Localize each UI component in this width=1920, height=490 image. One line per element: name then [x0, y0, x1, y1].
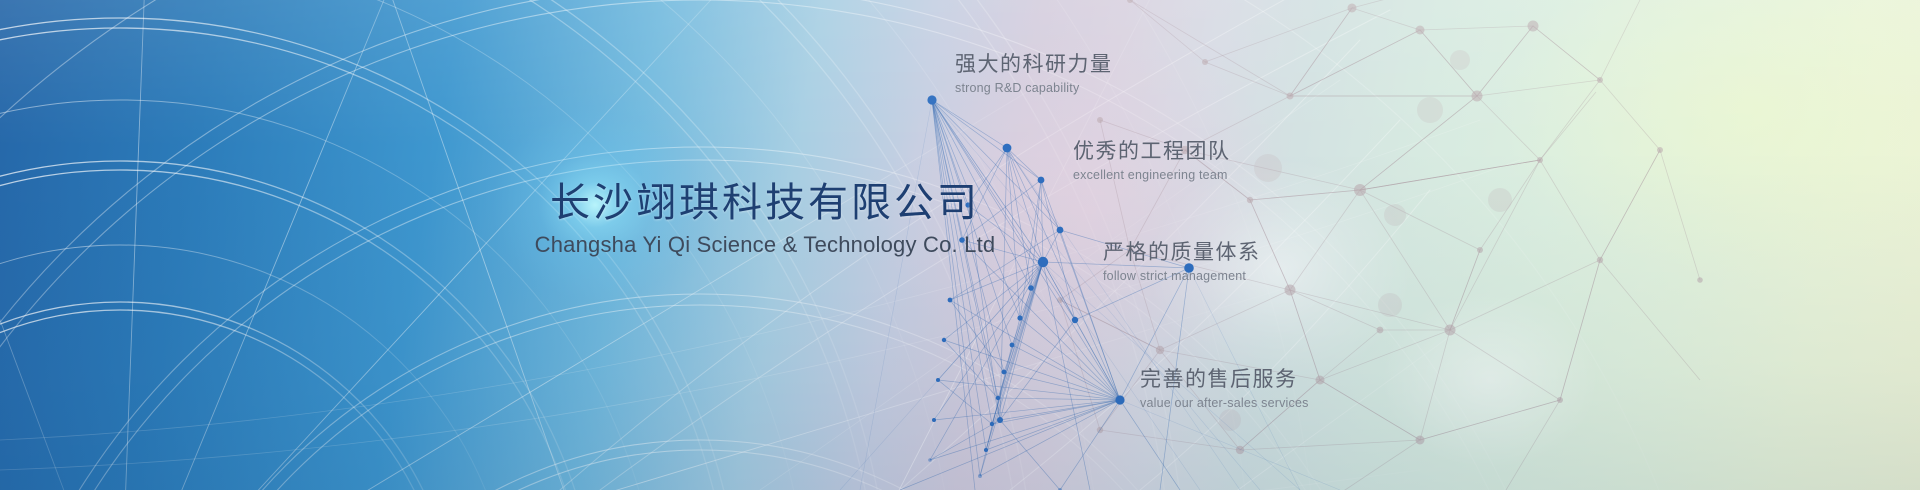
company-name-en: Changsha Yi Qi Science & Technology Co. …	[485, 232, 1045, 258]
feature-label-cn: 严格的质量体系	[1103, 240, 1261, 265]
feature-label-en: excellent engineering team	[1073, 168, 1231, 182]
company-name-cn: 长沙翊琪科技有限公司	[485, 180, 1045, 226]
feature-label-cn: 优秀的工程团队	[1073, 139, 1231, 164]
company-banner: 长沙翊琪科技有限公司 Changsha Yi Qi Science & Tech…	[0, 0, 1920, 490]
feature-label-en: value our after-sales services	[1140, 396, 1309, 410]
feature-label-cn: 强大的科研力量	[955, 52, 1113, 77]
feature-label-cn: 完善的售后服务	[1140, 367, 1309, 392]
company-title-block: 长沙翊琪科技有限公司 Changsha Yi Qi Science & Tech…	[485, 180, 1045, 258]
feature-label-en: follow strict management	[1103, 269, 1261, 283]
feature-item-rd: 强大的科研力量 strong R&D capability	[955, 52, 1113, 95]
feature-label-en: strong R&D capability	[955, 81, 1113, 95]
feature-item-quality: 严格的质量体系 follow strict management	[1103, 240, 1261, 283]
feature-item-service: 完善的售后服务 value our after-sales services	[1140, 367, 1309, 410]
feature-item-team: 优秀的工程团队 excellent engineering team	[1073, 139, 1231, 182]
